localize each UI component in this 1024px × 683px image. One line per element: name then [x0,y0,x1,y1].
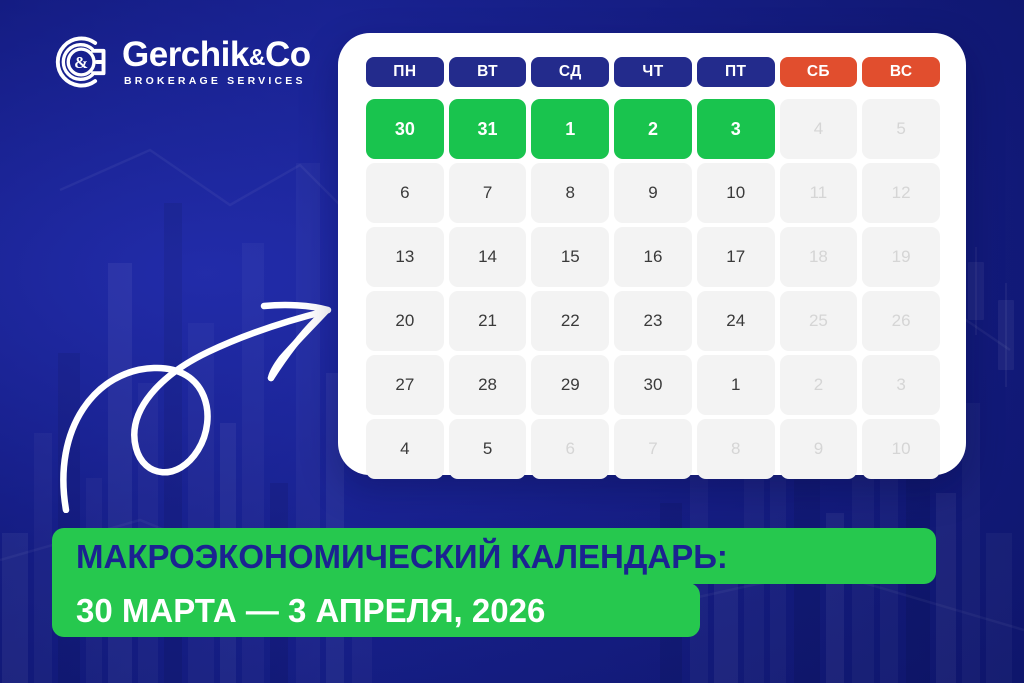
background-bar [2,533,28,683]
calendar-day-cell[interactable]: 28 [449,355,527,415]
background-bar [34,433,52,683]
brand-name-part2: Co [265,35,311,74]
headline-line-1: МАКРОЭКОНОМИЧЕСКИЙ КАЛЕНДАРЬ: [76,540,728,573]
gerchik-monogram-icon: & [52,34,108,90]
calendar-day-header-2: СД [531,57,609,87]
calendar-day-cell[interactable]: 8 [697,419,775,479]
background-candle-wick [1005,283,1007,387]
brand-name-part1: Gerchik [122,35,249,74]
calendar-day-cell[interactable]: 8 [531,163,609,223]
calendar-day-cell[interactable]: 10 [697,163,775,223]
calendar-day-header-4: ПТ [697,57,775,87]
calendar-day-cell[interactable]: 23 [614,291,692,351]
calendar-day-header-3: ЧТ [614,57,692,87]
calendar-grid: ПНВТСДЧТПТСБВС30311234567891011121314151… [366,57,940,479]
calendar-row-spacer [614,91,692,95]
headline-line-2: 30 МАРТА — 3 АПРЕЛЯ, 2026 [76,594,545,627]
calendar-day-cell[interactable]: 4 [780,99,858,159]
calendar-row-spacer [780,91,858,95]
calendar-day-cell[interactable]: 7 [449,163,527,223]
calendar-day-cell[interactable]: 1 [531,99,609,159]
headline-banner: МАКРОЭКОНОМИЧЕСКИЙ КАЛЕНДАРЬ: 30 МАРТА —… [52,528,936,637]
calendar-day-cell[interactable]: 16 [614,227,692,287]
calendar-day-cell[interactable]: 27 [366,355,444,415]
calendar-day-cell[interactable]: 2 [614,99,692,159]
calendar-row-spacer [531,91,609,95]
calendar-day-cell[interactable]: 24 [697,291,775,351]
calendar-day-cell[interactable]: 5 [449,419,527,479]
headline-banner-row-top: МАКРОЭКОНОМИЧЕСКИЙ КАЛЕНДАРЬ: [52,528,936,584]
calendar-day-cell[interactable]: 5 [862,99,940,159]
background-bar [936,493,956,683]
background-candle-body [968,262,984,320]
calendar-day-cell[interactable]: 26 [862,291,940,351]
svg-text:&: & [74,53,88,72]
promo-banner-canvas: & Gerchik&Co BROKERAGE SERVICES ПНВТСДЧТ… [0,0,1024,683]
brand-name: Gerchik&Co [122,37,311,73]
calendar-day-cell[interactable]: 17 [697,227,775,287]
calendar-day-cell[interactable]: 30 [366,99,444,159]
headline-banner-row-bottom: 30 МАРТА — 3 АПРЕЛЯ, 2026 [52,583,700,637]
brand-logo: & Gerchik&Co BROKERAGE SERVICES [52,34,311,90]
calendar-day-header-6: ВС [862,57,940,87]
calendar-day-cell[interactable]: 9 [614,163,692,223]
calendar-day-cell[interactable]: 12 [862,163,940,223]
calendar-day-cell[interactable]: 19 [862,227,940,287]
calendar-day-header-1: ВТ [449,57,527,87]
background-candle-wick [975,247,977,335]
calendar-row-spacer [366,91,444,95]
calendar-day-cell[interactable]: 15 [531,227,609,287]
calendar-row-spacer [862,91,940,95]
calendar-day-cell[interactable]: 13 [366,227,444,287]
brand-logo-text: Gerchik&Co BROKERAGE SERVICES [122,37,311,88]
brand-tagline: BROKERAGE SERVICES [124,75,311,87]
growth-arrow-doodle-icon [58,278,358,513]
calendar-day-cell[interactable]: 20 [366,291,444,351]
calendar-card: ПНВТСДЧТПТСБВС30311234567891011121314151… [338,33,966,475]
calendar-day-cell[interactable]: 6 [531,419,609,479]
calendar-row-spacer [449,91,527,95]
calendar-day-cell[interactable]: 11 [780,163,858,223]
calendar-day-cell[interactable]: 29 [531,355,609,415]
calendar-day-cell[interactable]: 4 [366,419,444,479]
calendar-day-header-0: ПН [366,57,444,87]
calendar-day-cell[interactable]: 3 [862,355,940,415]
calendar-day-cell[interactable]: 2 [780,355,858,415]
calendar-row-spacer [697,91,775,95]
calendar-day-cell[interactable]: 7 [614,419,692,479]
brand-ampersand: & [249,44,265,70]
calendar-day-cell[interactable]: 1 [697,355,775,415]
calendar-day-cell[interactable]: 18 [780,227,858,287]
calendar-day-cell[interactable]: 9 [780,419,858,479]
calendar-day-cell[interactable]: 10 [862,419,940,479]
calendar-day-cell[interactable]: 6 [366,163,444,223]
calendar-day-cell[interactable]: 22 [531,291,609,351]
calendar-day-cell[interactable]: 3 [697,99,775,159]
calendar-day-header-5: СБ [780,57,858,87]
background-bar [986,533,1012,683]
calendar-day-cell[interactable]: 25 [780,291,858,351]
calendar-day-cell[interactable]: 31 [449,99,527,159]
background-candle-body [998,300,1014,370]
calendar-day-cell[interactable]: 21 [449,291,527,351]
calendar-day-cell[interactable]: 14 [449,227,527,287]
calendar-day-cell[interactable]: 30 [614,355,692,415]
